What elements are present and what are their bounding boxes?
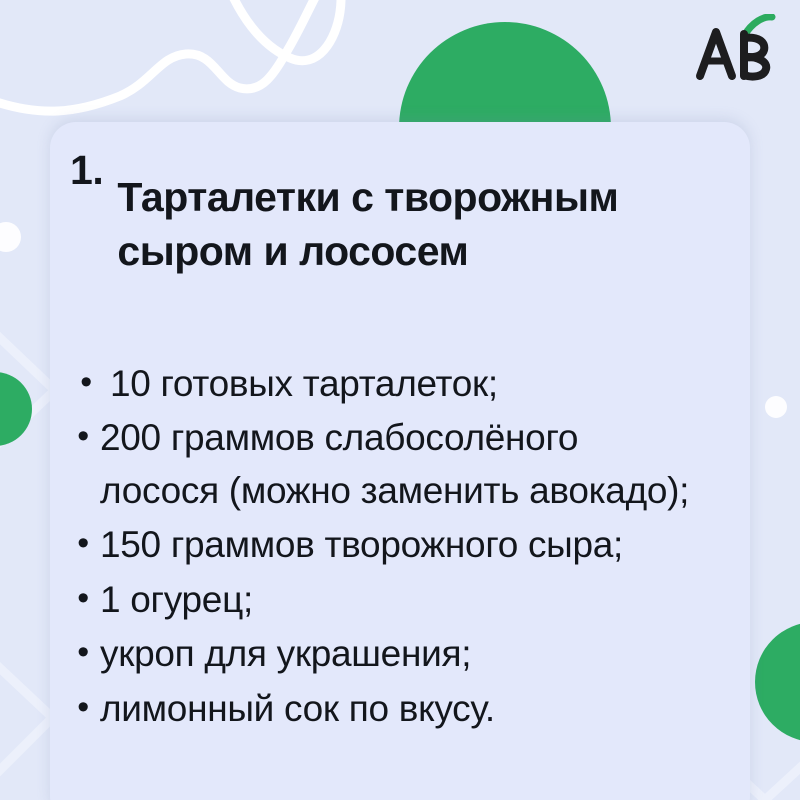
ingredient-item: • 200 граммов слабосолёного лосося (можн… bbox=[66, 412, 724, 517]
recipe-title-row: 1. Тарталетки с творожным сыром и лососе… bbox=[66, 144, 724, 306]
ab-brand-logo bbox=[694, 14, 780, 92]
ingredient-item: • 10 готовых тарталеток; bbox=[66, 358, 724, 411]
bullet-icon: • bbox=[66, 412, 100, 460]
recipe-number: 1. bbox=[70, 144, 117, 197]
recipe-slide: 1. Тарталетки с творожным сыром и лососе… bbox=[0, 0, 800, 800]
bullet-icon: • bbox=[66, 574, 100, 622]
bullet-icon: • bbox=[66, 358, 106, 406]
recipe-card: 1. Тарталетки с творожным сыром и лососе… bbox=[50, 122, 750, 800]
wave-line-left bbox=[0, 0, 330, 111]
ingredient-list: • 10 готовых тарталеток; • 200 граммов с… bbox=[66, 358, 724, 736]
ingredient-item: • укроп для украшения; bbox=[66, 628, 724, 681]
bullet-icon: • bbox=[66, 683, 100, 731]
logo-letter-a bbox=[700, 32, 732, 76]
green-circle-left bbox=[0, 372, 32, 446]
recipe-card-content: 1. Тарталетки с творожным сыром и лососе… bbox=[50, 122, 750, 737]
recipe-title: Тарталетки с творожным сыром и лососем bbox=[117, 171, 717, 278]
white-circle-left bbox=[0, 222, 21, 252]
ingredient-text: 150 граммов творожного сыра; bbox=[100, 519, 690, 572]
ab-logo-mark bbox=[694, 14, 780, 92]
ingredient-text: лимонный сок по вкусу. bbox=[100, 683, 690, 736]
ingredient-item: • лимонный сок по вкусу. bbox=[66, 683, 724, 736]
bullet-icon: • bbox=[66, 628, 100, 676]
ingredient-text: 10 готовых тарталеток; bbox=[106, 358, 700, 411]
logo-accent-stroke bbox=[744, 17, 772, 36]
ingredient-item: • 150 граммов творожного сыра; bbox=[66, 519, 724, 572]
ingredient-text: 200 граммов слабосолёного лосося (можно … bbox=[100, 412, 690, 517]
wave-line-loop bbox=[222, 0, 341, 61]
bullet-icon: • bbox=[66, 519, 100, 567]
ingredient-text: укроп для украшения; bbox=[100, 628, 690, 681]
white-circle-right bbox=[765, 396, 787, 418]
ingredient-text: 1 огурец; bbox=[100, 574, 690, 627]
ingredient-item: • 1 огурец; bbox=[66, 574, 724, 627]
green-circle-bottom-right bbox=[755, 622, 800, 742]
